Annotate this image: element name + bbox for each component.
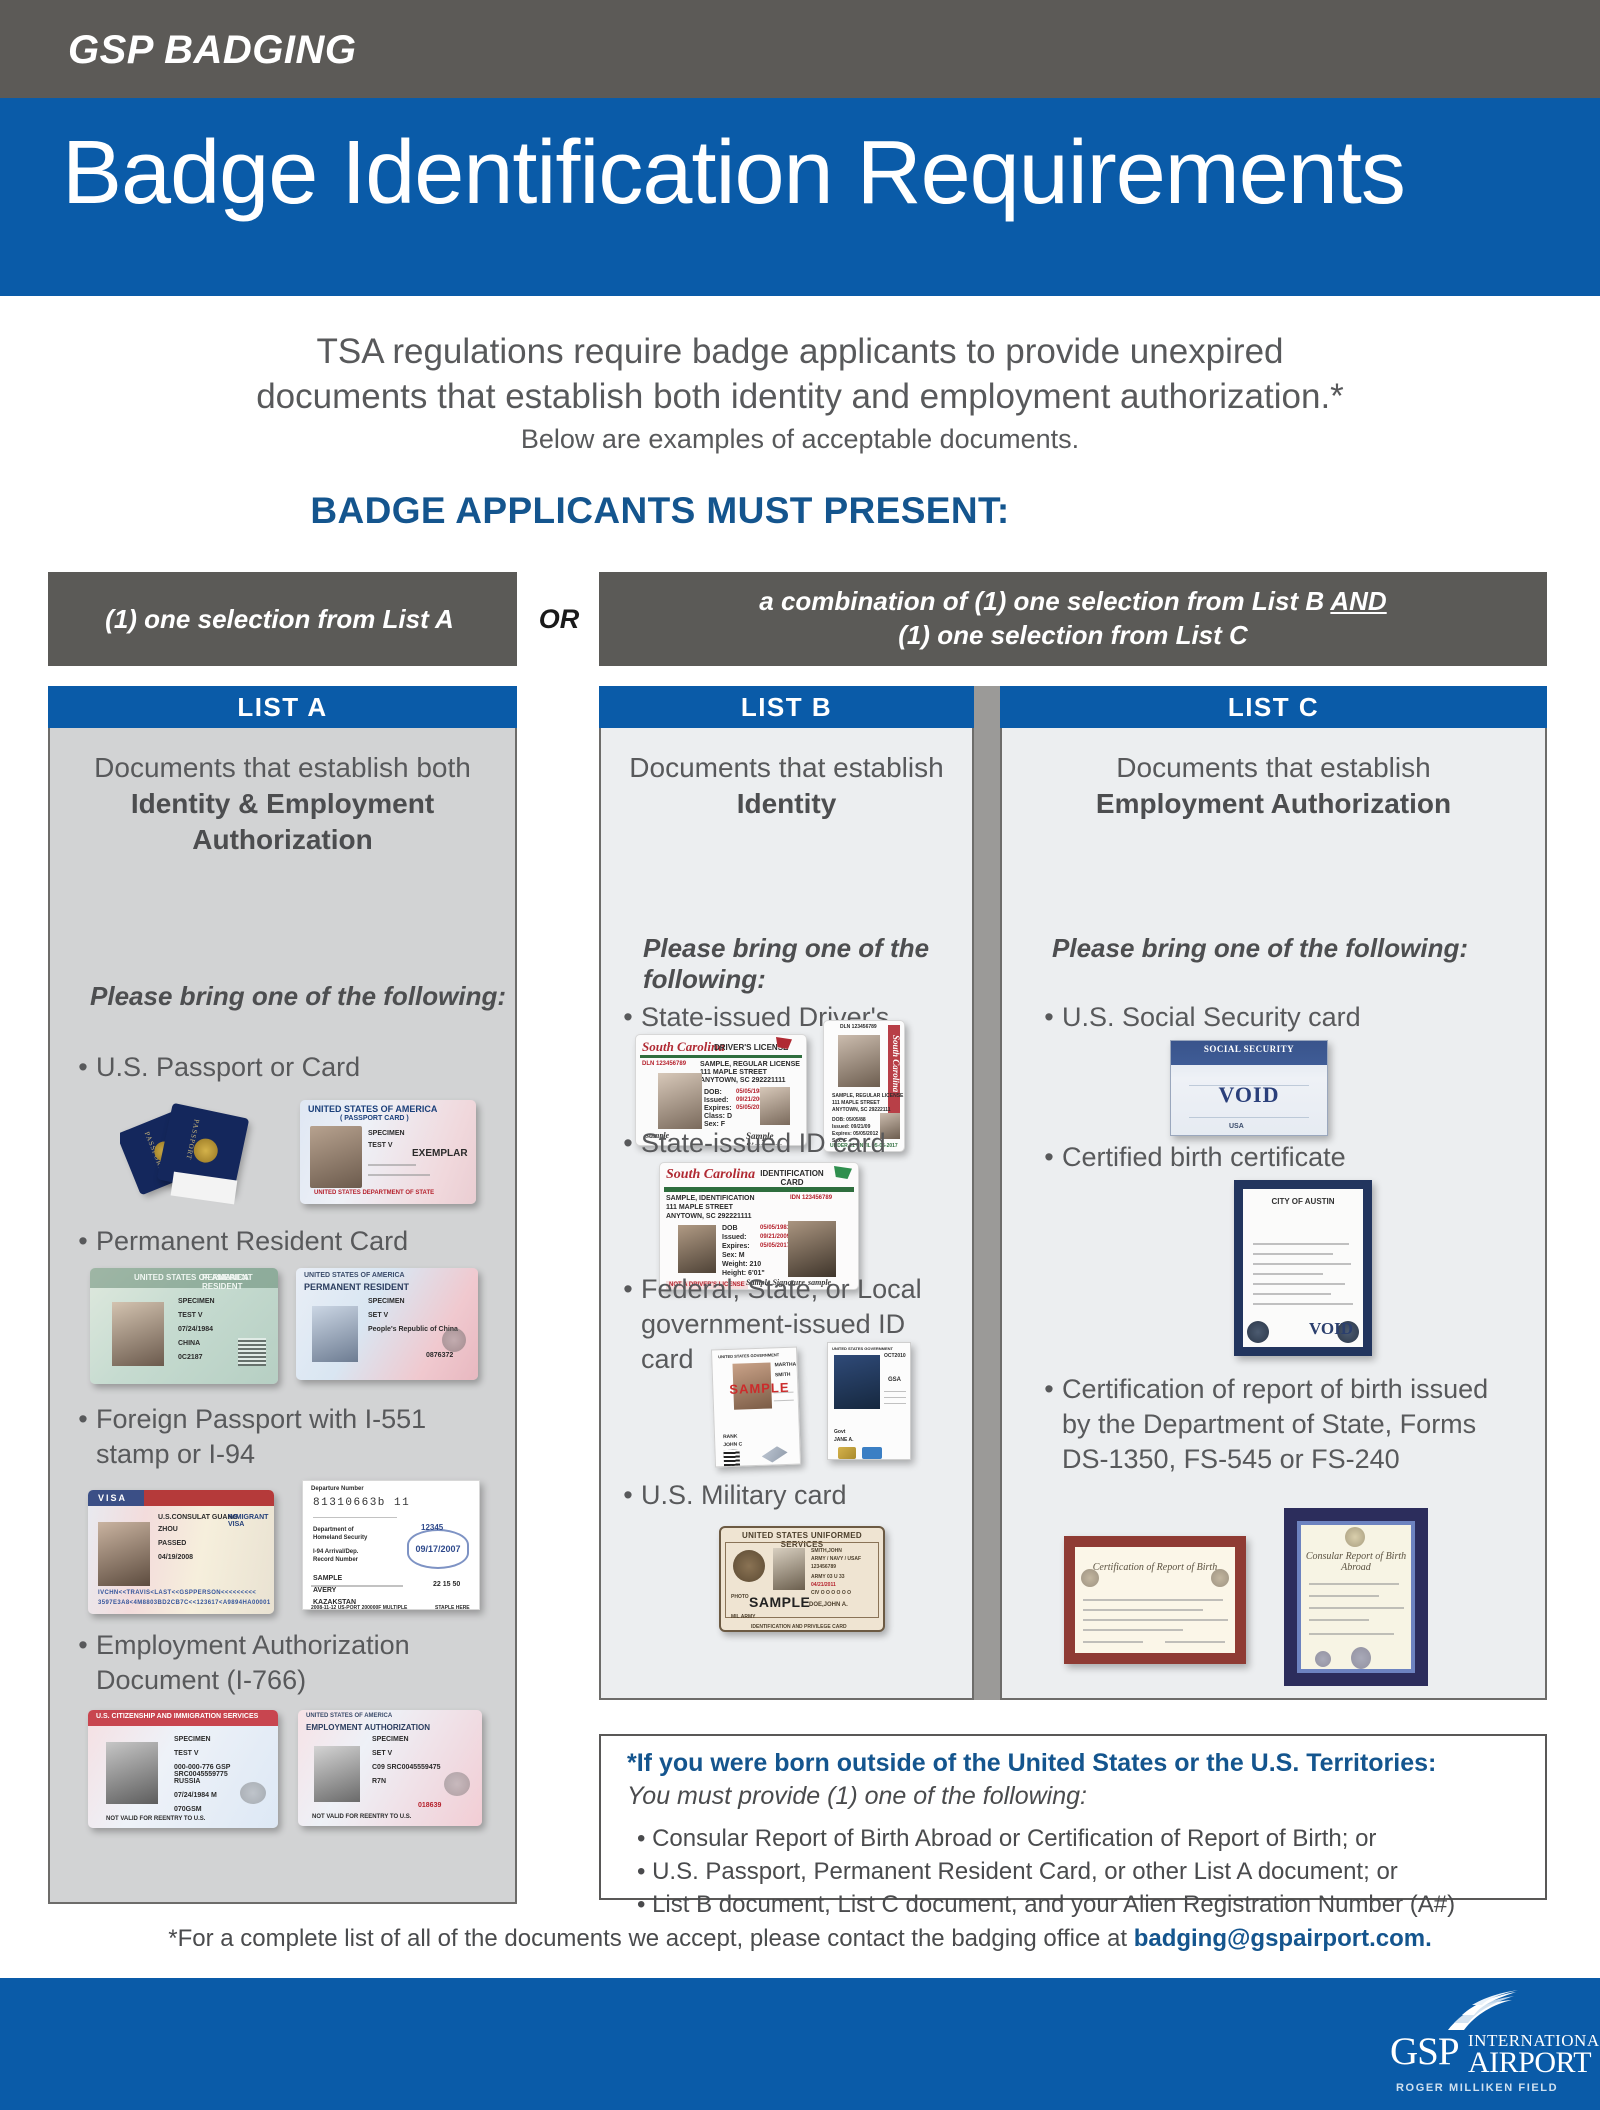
rule-list-a: (1) one selection from List A: [48, 572, 517, 666]
doc-social-security-card: SOCIAL SECURITY VOID USA: [1170, 1040, 1328, 1136]
list-b-caption: Documents that establish Identity: [601, 728, 972, 822]
i94-staple: STAPLE HERE: [435, 1605, 470, 1611]
list-b-panel: Documents that establish Identity Please…: [599, 728, 974, 1700]
list-c-item-0-label: U.S. Social Security card: [1062, 1000, 1506, 1035]
rule-bc-and: AND: [1330, 586, 1386, 616]
pr-back-country: UNITED STATES OF AMERICA: [304, 1272, 405, 1279]
footer-note: *For a complete list of all of the docum…: [0, 1925, 1600, 1953]
bullet-icon: •: [70, 1402, 96, 1472]
bc-void: VOID: [1309, 1319, 1353, 1339]
intro-line-1: TSA regulations require badge applicants…: [100, 330, 1500, 375]
list-a-bring: Please bring one of the following:: [68, 981, 506, 1012]
doc-consular-report-birth-fs240: Consular Report of Birth Abroad: [1284, 1508, 1428, 1686]
passport-card-sub: ( PASSPORT CARD ): [340, 1115, 409, 1122]
note-title: *If you were born outside of the United …: [627, 1749, 1436, 1778]
note-bullet-2: • List B document, List C document, and …: [637, 1888, 1455, 1921]
ead-back-title: EMPLOYMENT AUTHORIZATION: [306, 1723, 430, 1732]
bullet-icon: •: [1036, 1372, 1062, 1477]
dl-state-name: South Carolina: [642, 1039, 725, 1055]
gsp-airport-logo: GSP INTERNATIONAL AIRPORT ROGER MILLIKEN…: [1390, 1990, 1565, 2100]
badge-requirements-poster: GSP BADGING Badge Identification Require…: [0, 0, 1600, 2110]
note-bullet-0-label: Consular Report of Birth Abroad or Certi…: [652, 1825, 1376, 1852]
footer-note-text: *For a complete list of all of the docum…: [168, 1925, 1133, 1952]
passport-card-exemplar: EXEMPLAR: [412, 1148, 468, 1159]
list-c-caption: Documents that establish Employment Auth…: [1002, 728, 1545, 822]
list-c-item-2: • Certification of report of birth issue…: [1036, 1372, 1506, 1477]
badging-email-link[interactable]: badging@gspairport.com.: [1134, 1925, 1432, 1952]
gov-id-gsa: GSA: [888, 1377, 901, 1383]
logo-gsp-text: GSP: [1390, 2032, 1459, 2071]
bullet-icon: •: [70, 1224, 96, 1259]
intro-subline: Below are examples of acceptable documen…: [100, 424, 1500, 455]
doc-certification-report-birth-ds1350: Certification of Report of Birth: [1064, 1536, 1246, 1664]
list-a-header: LIST A: [48, 686, 517, 728]
rule-list-bc: a combination of (1) one selection from …: [599, 572, 1547, 666]
must-present-heading: BADGE APPLICANTS MUST PRESENT:: [0, 490, 1320, 532]
military-card-sample: SAMPLE: [749, 1594, 810, 1610]
pr-front-title: PERMANENT RESIDENT: [202, 1273, 278, 1291]
rule-bc-line1: a combination of (1) one selection from …: [759, 586, 1330, 616]
bc-city-label: CITY OF AUSTIN: [1243, 1197, 1363, 1206]
note-bullet-1-label: U.S. Passport, Permanent Resident Card, …: [652, 1858, 1398, 1885]
list-c-header: LIST C: [1000, 686, 1547, 728]
list-c-item-0: • U.S. Social Security card: [1036, 1000, 1506, 1035]
gov-id-sample-label: SAMPLE: [729, 1380, 790, 1397]
list-a-caption-bold: Identity & Employment Authorization: [131, 788, 434, 855]
born-outside-us-note: *If you were born outside of the United …: [599, 1734, 1547, 1900]
bullet-icon: •: [1036, 1000, 1062, 1035]
footer-bar: [0, 1978, 1600, 2110]
logo-right-stack: INTERNATIONAL AIRPORT: [1468, 2032, 1600, 2078]
doc-gov-issued-id-gsa: UNITED STATES GOVERNMENT OCT2010 GSA Gov…: [827, 1342, 911, 1460]
ssn-void: VOID: [1171, 1082, 1327, 1108]
i94-number: 81310663b 11: [313, 1497, 410, 1509]
intro-block: TSA regulations require badge applicants…: [100, 330, 1500, 455]
note-bullet-1: • U.S. Passport, Permanent Resident Card…: [637, 1855, 1455, 1888]
list-c-caption-plain: Documents that establish: [1116, 752, 1430, 783]
ead-front-notvalid: NOT VALID FOR REENTRY TO U.S.: [106, 1816, 205, 1822]
list-a-item-3-label: Employment Authorization Document (I-766…: [96, 1628, 490, 1698]
list-b-item-1-label: State-issued ID card: [641, 1126, 965, 1161]
list-c-panel: Documents that establish Employment Auth…: [1000, 728, 1547, 1700]
idcard-state-name: South Carolina: [666, 1167, 755, 1183]
page-title: Badge Identification Requirements: [62, 128, 1405, 218]
doc-ead-card-back: UNITED STATES OF AMERICA EMPLOYMENT AUTH…: [298, 1710, 482, 1826]
bullet-icon: •: [615, 1126, 641, 1161]
gov-id-oct: OCT2010: [884, 1353, 906, 1359]
list-b-bring: Please bring one of the following:: [619, 933, 972, 995]
bullet-icon: •: [70, 1628, 96, 1698]
doc-gov-issued-id-sample: UNITED STATES GOVERNMENT SAMPLE MARTHA S…: [711, 1347, 801, 1468]
gov-id-name: JANE A.: [834, 1437, 854, 1443]
doc-us-passport-card: UNITED STATES OF AMERICA ( PASSPORT CARD…: [300, 1100, 476, 1204]
list-a-caption: Documents that establish both Identity &…: [50, 728, 515, 857]
list-c-item-2-label: Certification of report of birth issued …: [1062, 1372, 1506, 1477]
ead-back-notvalid: NOT VALID FOR REENTRY TO U.S.: [312, 1814, 411, 1820]
passport-card-title: UNITED STATES OF AMERICA: [308, 1104, 437, 1114]
note-bullet-list: • Consular Report of Birth Abroad or Cer…: [637, 1822, 1455, 1921]
intro-line-2: documents that establish both identity a…: [100, 375, 1500, 420]
list-a-item-3: • Employment Authorization Document (I-7…: [70, 1628, 490, 1698]
doc-permanent-resident-card-back: UNITED STATES OF AMERICA PERMANENT RESID…: [296, 1268, 478, 1380]
swoosh-icon: [1442, 1990, 1520, 2032]
list-a-item-2: • Foreign Passport with I-551 stamp or I…: [70, 1402, 490, 1472]
note-bullet-2-label: List B document, List C document, and yo…: [652, 1891, 1455, 1918]
note-subtitle: You must provide (1) one of the followin…: [627, 1782, 1087, 1811]
list-a-item-0-label: U.S. Passport or Card: [96, 1050, 490, 1085]
pr-back-title: PERMANENT RESIDENT: [304, 1282, 409, 1292]
dl-vertical-state: South Carolina: [891, 1035, 901, 1092]
visa-word: VISA: [98, 1493, 127, 1503]
list-b-caption-bold: Identity: [737, 788, 837, 819]
idcard-type: IDENTIFICATION CARD: [756, 1169, 828, 1187]
rule-list-bc-label: a combination of (1) one selection from …: [759, 585, 1386, 653]
doc-i94-form: Departure Number 81310663b 11 Department…: [302, 1480, 480, 1610]
i94-stamp-date: 09/17/2007: [415, 1544, 460, 1554]
list-a-item-1: • Permanent Resident Card: [70, 1224, 490, 1259]
rule-list-a-label: (1) one selection from List A: [48, 604, 517, 635]
list-b-item-3-label: U.S. Military card: [641, 1478, 965, 1513]
doc-us-passport-books: PASSPORT PASSPORT: [120, 1096, 280, 1206]
ead-front-specimen: SPECIMEN: [174, 1736, 211, 1743]
list-b-header: LIST B: [599, 686, 974, 728]
doc-foreign-passport-visa: VISA U.S.CONSULAT GUANG ZHOU PASSED 04/1…: [88, 1490, 274, 1614]
list-a-item-2-label: Foreign Passport with I-551 stamp or I-9…: [96, 1402, 490, 1472]
note-bullet-0: • Consular Report of Birth Abroad or Cer…: [637, 1822, 1455, 1855]
list-a-caption-plain: Documents that establish both: [94, 752, 471, 783]
list-a-item-0: • U.S. Passport or Card: [70, 1050, 490, 1085]
list-a-panel: Documents that establish both Identity &…: [48, 728, 517, 1904]
doc-certified-birth-certificate: CITY OF AUSTIN VOID: [1234, 1180, 1372, 1356]
logo-airport-text: AIRPORT: [1468, 2049, 1600, 2078]
list-b-item-3: • U.S. Military card: [615, 1478, 965, 1513]
pr-front-specimen: SPECIMEN: [178, 1298, 215, 1305]
doc-us-military-card: UNITED STATES UNIFORMED SERVICES SMITH,J…: [719, 1526, 885, 1632]
list-c-caption-bold: Employment Authorization: [1096, 788, 1451, 819]
ssn-title: SOCIAL SECURITY: [1171, 1044, 1327, 1054]
bullet-icon: •: [615, 1272, 641, 1377]
list-c-item-1-label: Certified birth certificate: [1062, 1140, 1506, 1175]
doc-sc-identification-card: South Carolina IDENTIFICATION CARD SAMPL…: [659, 1162, 859, 1290]
list-a-item-1-label: Permanent Resident Card: [96, 1224, 490, 1259]
column-divider: [974, 686, 1000, 1700]
kicker-label: GSP BADGING: [68, 28, 357, 73]
rule-bc-line2: (1) one selection from List C: [898, 620, 1248, 650]
list-b-caption-plain: Documents that establish: [629, 752, 943, 783]
or-separator: OR: [531, 604, 587, 635]
doc-permanent-resident-card-front: UNITED STATES OF AMERICA PERMANENT RESID…: [90, 1268, 278, 1384]
list-c-bring: Please bring one of the following:: [1028, 933, 1468, 964]
bullet-icon: •: [1036, 1140, 1062, 1175]
bullet-icon: •: [615, 1478, 641, 1513]
bullet-icon: •: [70, 1050, 96, 1085]
doc-ead-card-front: U.S. CITIZENSHIP AND IMMIGRATION SERVICE…: [88, 1710, 278, 1828]
list-b-item-1: • State-issued ID card: [615, 1126, 965, 1161]
logo-tagline: ROGER MILLIKEN FIELD: [1396, 2082, 1558, 2094]
list-c-item-1: • Certified birth certificate: [1036, 1140, 1506, 1175]
